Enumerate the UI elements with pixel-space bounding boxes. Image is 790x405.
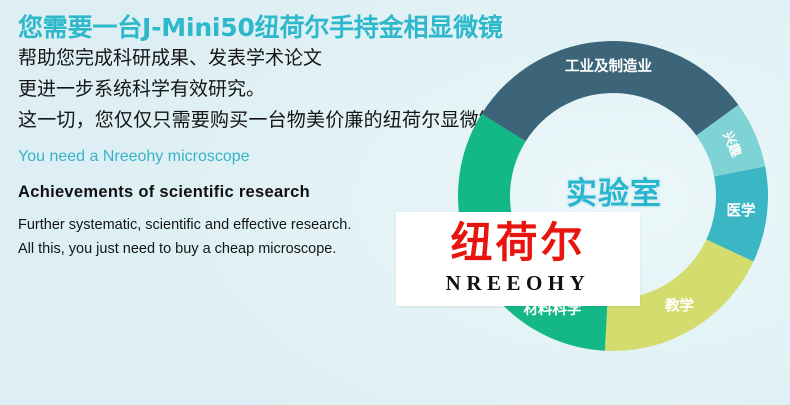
brand-logo-card: 纽荷尔 NREEOHY <box>396 212 640 306</box>
donut-slice-label: 医学 <box>727 202 756 220</box>
laboratory-callout: 实验室 <box>566 168 662 213</box>
brand-name-english: NREEOHY <box>446 273 591 294</box>
poster-headline: 您需要一台J-Mini50纽荷尔手持金相显微镜 <box>18 12 488 43</box>
donut-slice-label: 教学 <box>664 297 694 315</box>
donut-slice[interactable] <box>482 41 739 141</box>
english-heading: Achievements of scientific research <box>18 181 488 204</box>
poster-subline-1: 帮助您完成科研成果、发表学术论文 <box>18 43 488 74</box>
poster-subline-2: 更进一步系统科学有效研究。 <box>18 74 488 105</box>
english-tagline: You need a Nreeohy microscope <box>18 145 488 168</box>
poster-canvas: 您需要一台J-Mini50纽荷尔手持金相显微镜 帮助您完成科研成果、发表学术论文… <box>0 0 790 405</box>
brand-name-chinese: 纽荷尔 <box>450 222 585 264</box>
poster-subline-3: 这一切，您仅仅只需要购买一台物美价廉的纽荷尔显微镜。 <box>18 105 488 136</box>
donut-slice-label: 工业及制造业 <box>565 57 652 75</box>
